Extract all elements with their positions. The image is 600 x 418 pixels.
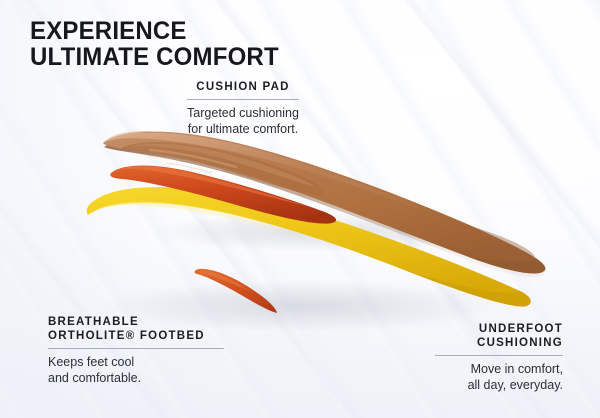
callout-divider-underfoot-cushioning <box>435 355 563 356</box>
infographic-canvas: EXPERIENCE ULTIMATE COMFORT CUSHION PAD … <box>0 0 600 418</box>
callout-body-breathable-footbed: Keeps feet cool and comfortable. <box>48 355 258 386</box>
callout-body-underfoot-cushioning: Move in comfort, all day, everyday. <box>385 362 563 393</box>
callout-title-breathable-footbed: BREATHABLE ORTHOLITE® FOOTBED <box>48 315 258 343</box>
callout-divider-breathable-footbed <box>48 348 224 349</box>
callout-title-underfoot-cushioning: UNDERFOOT CUSHIONING <box>385 322 563 350</box>
callout-title-cushion-pad: CUSHION PAD <box>148 80 338 94</box>
callout-cushion-pad: CUSHION PAD Targeted cushioning for ulti… <box>148 80 338 137</box>
callout-underfoot-cushioning: UNDERFOOT CUSHIONING Move in comfort, al… <box>385 322 563 393</box>
page-title: EXPERIENCE ULTIMATE COMFORT <box>30 19 376 71</box>
callout-breathable-footbed: BREATHABLE ORTHOLITE® FOOTBED Keeps feet… <box>48 315 258 386</box>
callout-divider-cushion-pad <box>187 99 299 100</box>
callout-body-cushion-pad: Targeted cushioning for ultimate comfort… <box>148 106 338 137</box>
